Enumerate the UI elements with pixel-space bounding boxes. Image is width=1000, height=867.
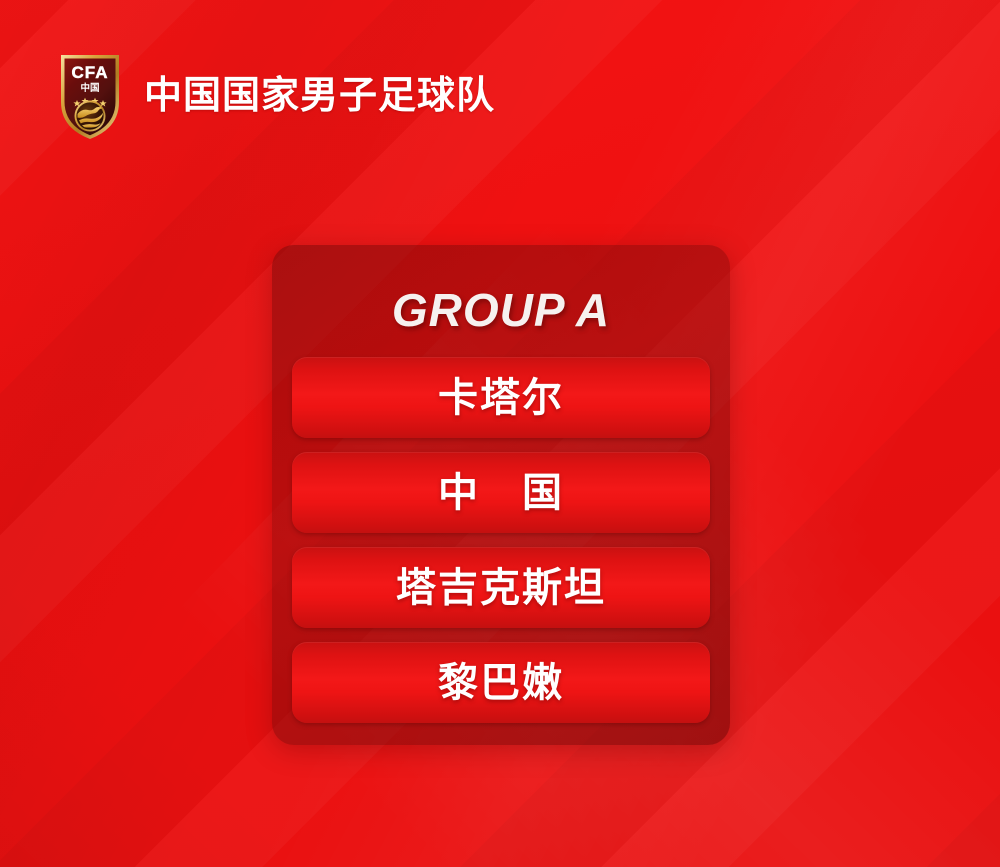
group-title: GROUP A [292,287,710,333]
team-pill-label: 塔吉克斯坦 [396,568,606,608]
team-pill-label: 卡塔尔 [438,378,564,418]
cfa-crest-icon: CFA 中国 [58,50,122,142]
team-pill[interactable]: 中 国 [292,452,710,533]
team-list: 卡塔尔 中 国 塔吉克斯坦 黎巴嫩 [292,357,710,723]
team-name-title: 中国国家男子足球队 [144,77,495,115]
group-card: GROUP A 卡塔尔 中 国 塔吉克斯坦 黎巴嫩 [272,245,730,745]
team-pill-label: 黎巴嫩 [438,663,564,703]
team-pill[interactable]: 塔吉克斯坦 [292,547,710,628]
svg-text:中国: 中国 [80,82,99,94]
svg-text:CFA: CFA [72,63,109,82]
poster-canvas: CFA 中国 [0,0,1000,867]
team-pill[interactable]: 卡塔尔 [292,357,710,438]
team-pill[interactable]: 黎巴嫩 [292,642,710,723]
header: CFA 中国 [58,50,495,142]
team-pill-label: 中 国 [438,473,564,513]
